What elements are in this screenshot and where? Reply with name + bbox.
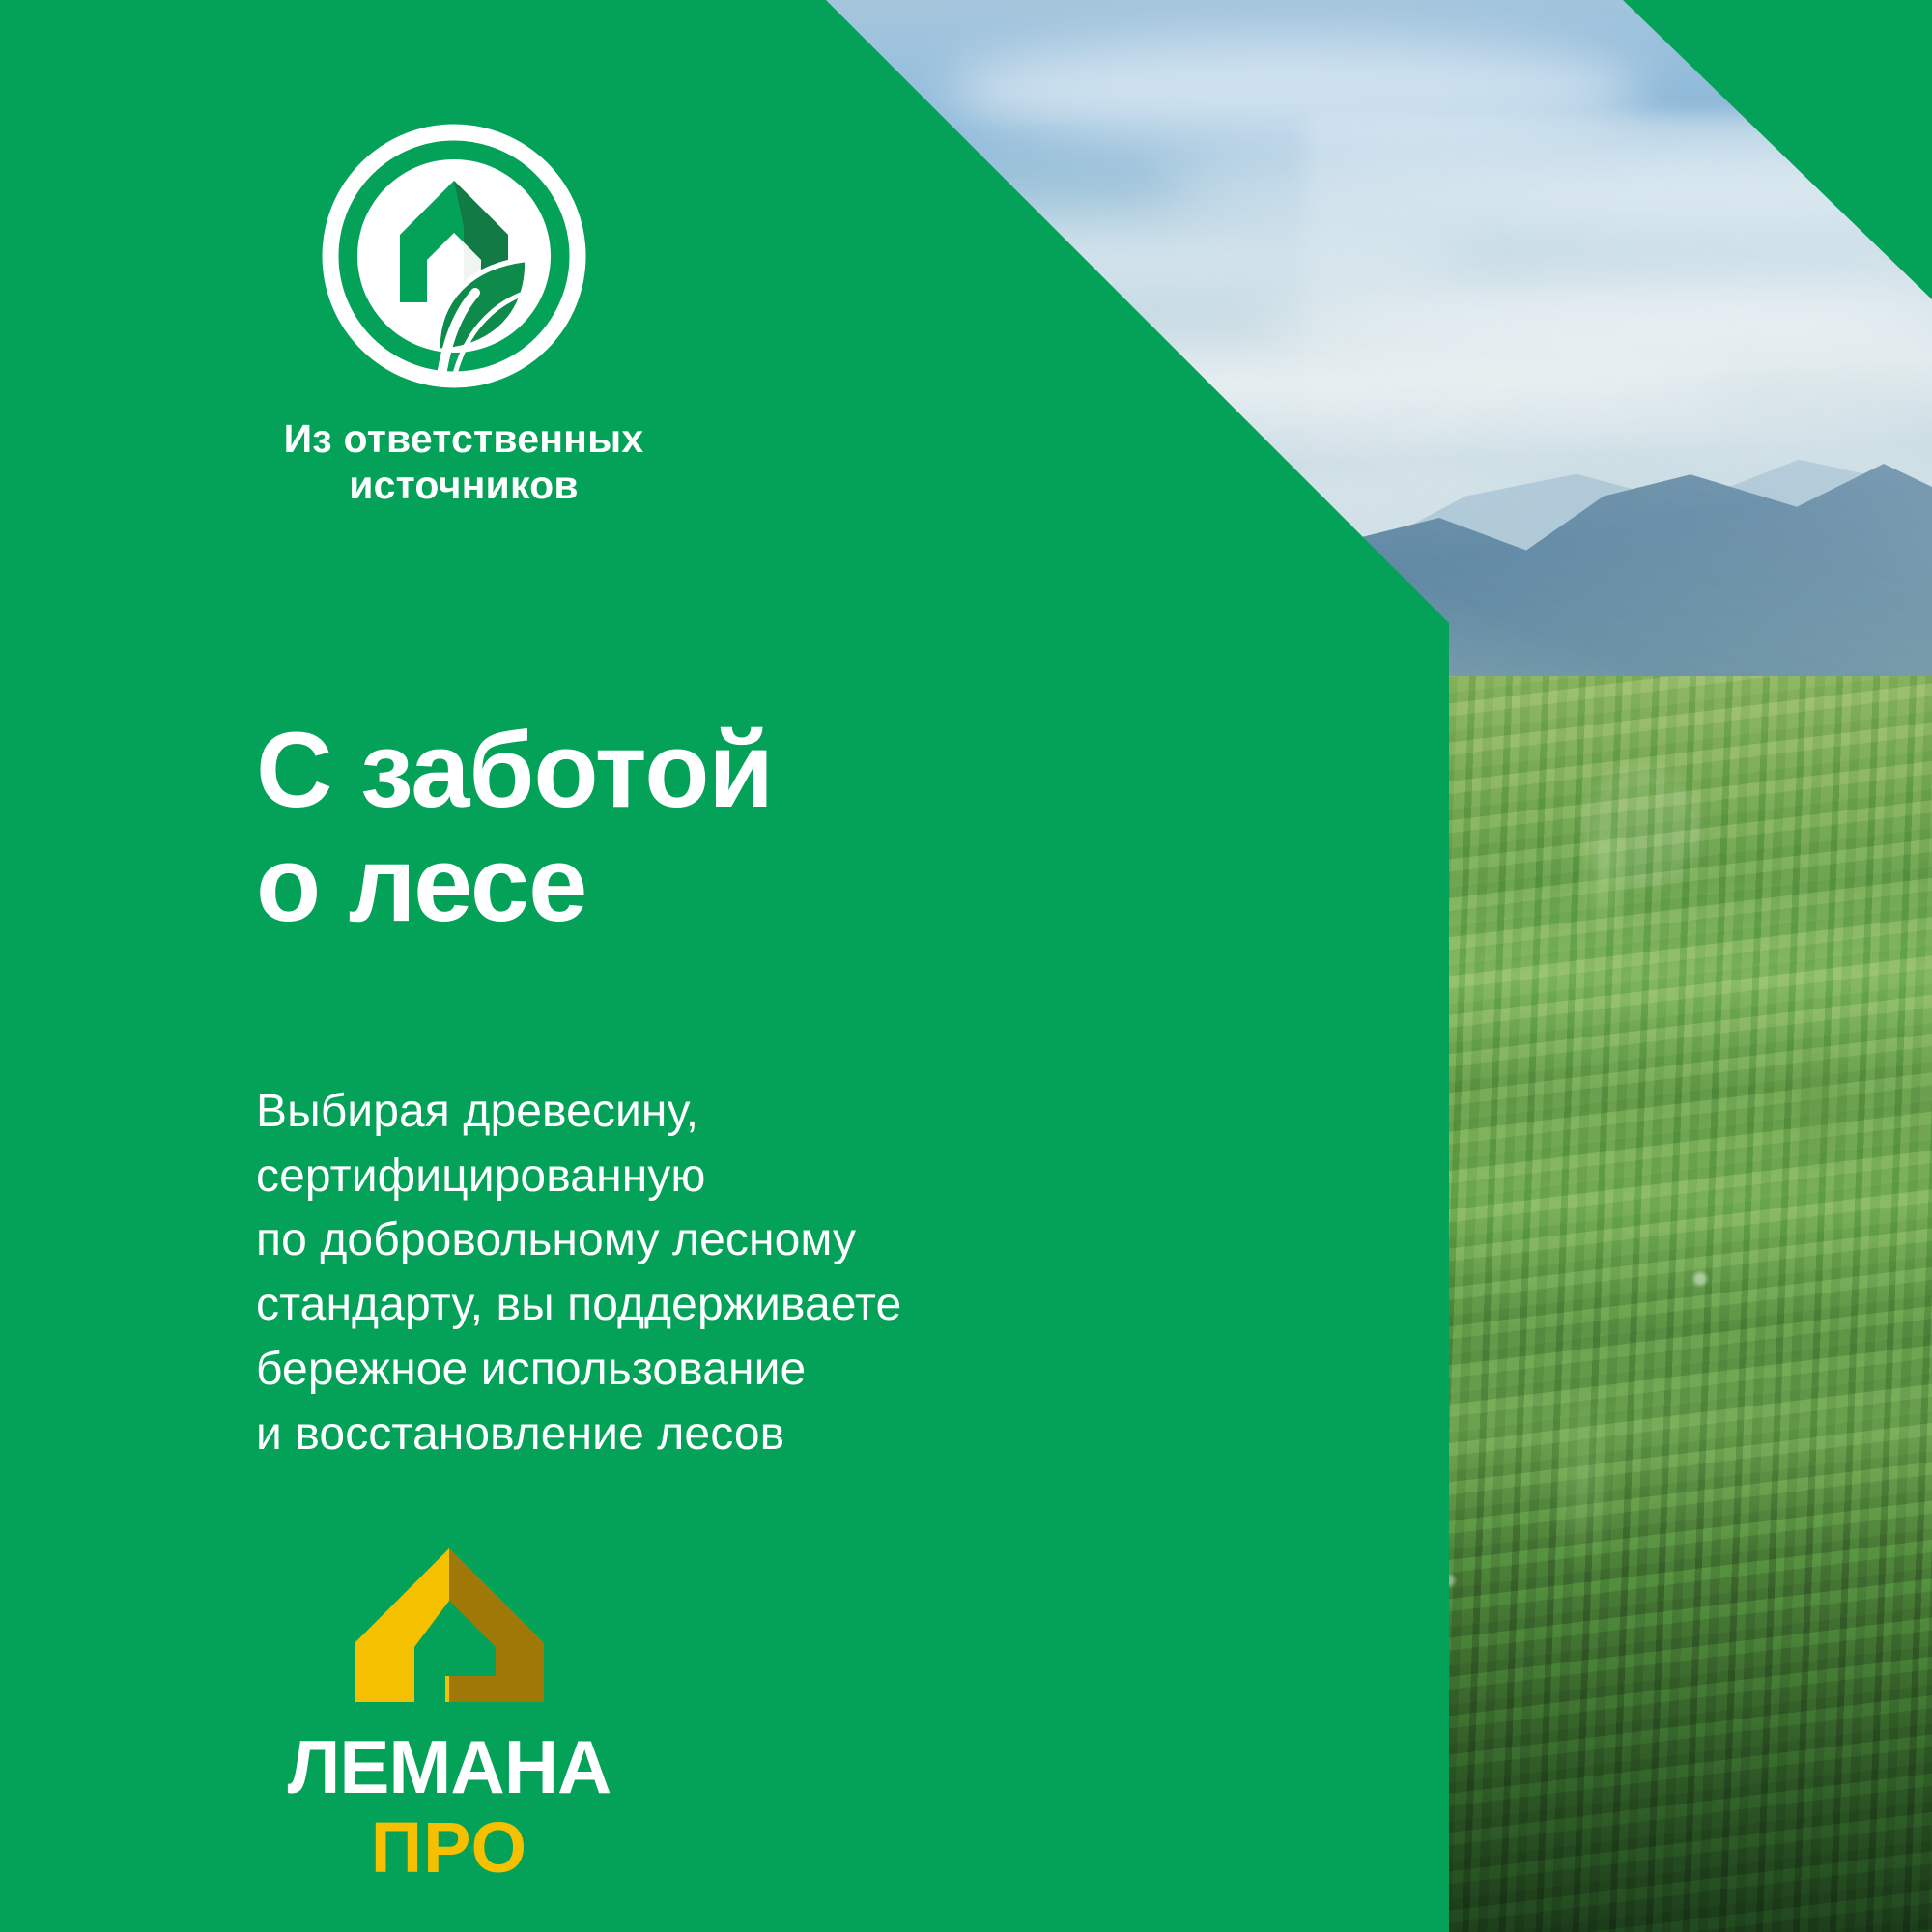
lemana-house-icon [256, 1541, 642, 1710]
lemana-pro-logo[interactable]: ЛЕМАНА ПРО [256, 1541, 642, 1891]
svg-text:ПРО: ПРО [371, 1807, 527, 1888]
poster-canvas: Из ответственных источников С заботой о … [0, 0, 1932, 1932]
eco-badge-caption: Из ответственных источников [261, 415, 667, 509]
svg-text:ЛЕМАНА: ЛЕМАНА [288, 1724, 611, 1809]
body-paragraph: Выбирая древесину, сертифицированную по … [256, 1080, 1087, 1466]
lemana-pro-wordmark: ЛЕМАНА ПРО [256, 1718, 642, 1891]
eco-house-leaf-circle-icon [319, 121, 589, 391]
page-title: С заботой о лесе [256, 714, 1125, 944]
